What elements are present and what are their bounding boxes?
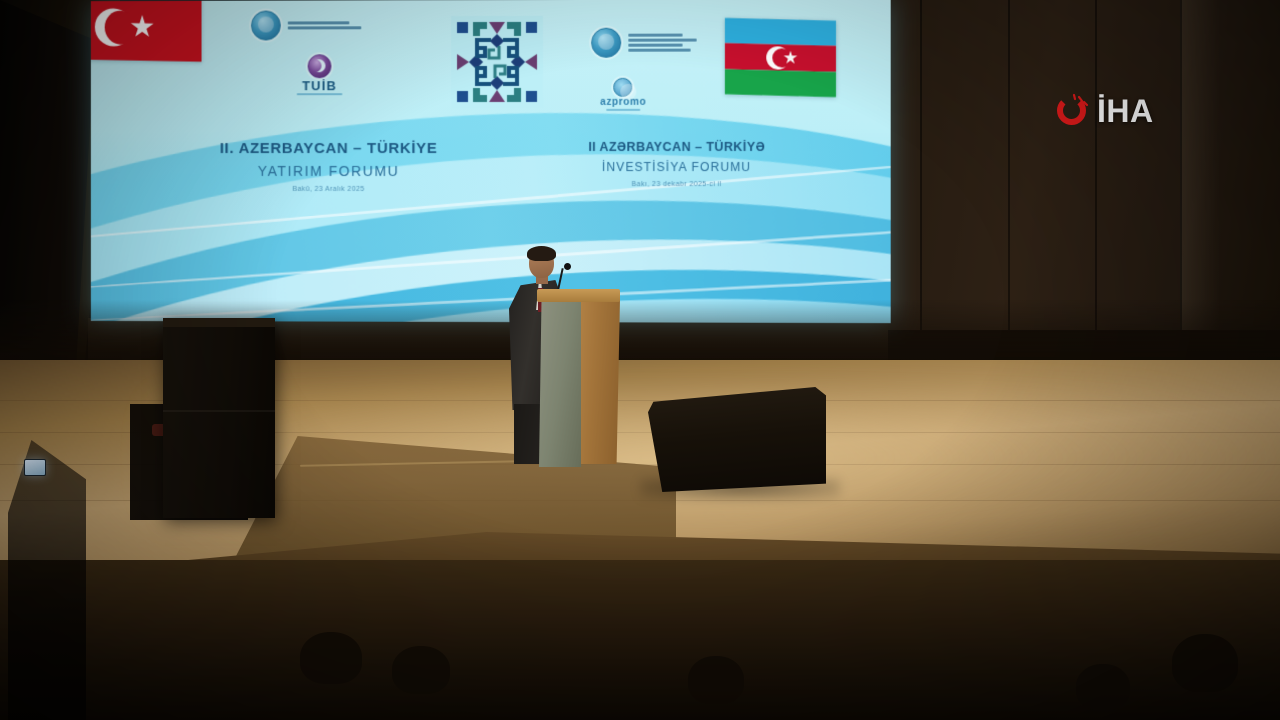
podium-front-panel — [539, 299, 581, 467]
audience-foreground — [0, 560, 1280, 720]
podium — [537, 289, 620, 464]
logo-azpromo: azpromo — [600, 78, 646, 111]
logo-text-line — [628, 49, 690, 52]
logo-text-line — [628, 34, 682, 37]
logo-text-line — [628, 39, 696, 42]
logo-ticaret-bakanligi — [251, 10, 361, 40]
hall-wall-right — [880, 0, 1280, 330]
turkey-flag — [91, 0, 202, 62]
title-block-azerbaijani: II AZƏRBAYCAN – TÜRKİYƏ İNVESTİSİYA FORU… — [506, 140, 848, 188]
audience-head — [1172, 634, 1238, 692]
azpromo-drop-emblem-icon — [614, 78, 633, 97]
forum-date-az: Bakı, 23 dekabr 2025-ci il — [506, 181, 848, 188]
camera-person-silhouette — [8, 440, 86, 720]
azerbaijan-flag — [725, 18, 836, 97]
audience-head — [1076, 664, 1130, 710]
logo-tuib-wordmark: TUİB — [302, 79, 337, 92]
logo-text-line — [288, 26, 362, 29]
logo-azpromo-wordmark: azpromo — [600, 98, 646, 108]
iha-watermark: İHA — [1053, 92, 1154, 129]
loudspeaker-cabinet — [163, 318, 275, 518]
forum-title-sub-tr: YATIRIM FORUMU — [150, 163, 508, 179]
forum-date-tr: Bakü, 23 Aralık 2025 — [150, 186, 508, 193]
iha-wordmark: İHA — [1097, 95, 1154, 127]
microphone-icon — [564, 263, 571, 270]
logo-text-line — [628, 44, 682, 47]
logo-tuib: TUİB — [297, 54, 343, 95]
crescent-emblem-icon — [308, 54, 332, 78]
stage-monitor-wedge — [648, 387, 826, 492]
forum-title-sub-az: İNVESTİSİYA FORUMU — [506, 160, 848, 174]
presenter-hair — [527, 246, 556, 261]
iha-ring-icon — [1053, 92, 1090, 129]
projection-screen: TUİB azpromo — [91, 0, 891, 323]
forum-title-main-tr: II. AZERBAYCAN – TÜRKİYE — [150, 140, 508, 157]
audience-head — [300, 632, 362, 684]
logo-azerbaijan-ministry — [591, 28, 697, 58]
conference-stage-photo: TUİB azpromo — [0, 0, 1280, 720]
forum-title-main-az: II AZƏRBAYCAN – TÜRKİYƏ — [506, 140, 848, 154]
audience-head — [688, 656, 744, 704]
audience-head — [392, 646, 450, 694]
logo-text-line — [288, 21, 350, 24]
turkish-state-emblem-icon — [251, 11, 281, 41]
title-block-turkish: II. AZERBAYCAN – TÜRKİYE YATIRIM FORUMU … — [150, 140, 508, 193]
podium-top-surface — [537, 289, 620, 302]
phone-screen-icon — [24, 459, 46, 476]
azerbaijan-state-emblem-icon — [591, 28, 621, 58]
center-ornament-icon — [451, 16, 543, 108]
